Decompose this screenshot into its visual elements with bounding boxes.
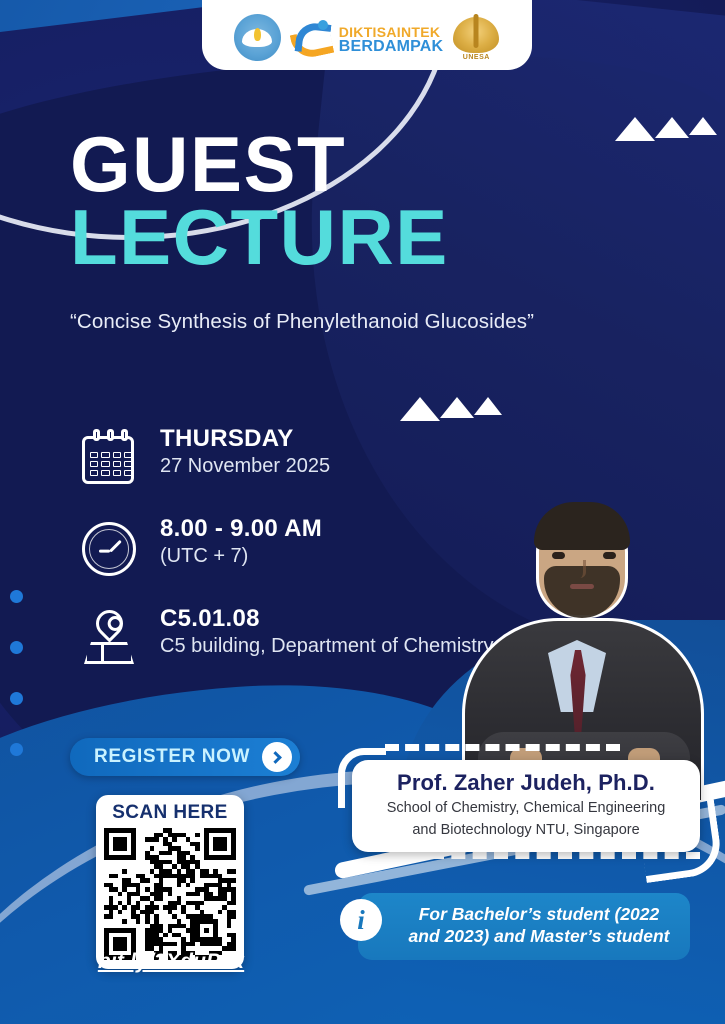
detail-row-location: C5.01.08 C5 building, Department of Chem… (78, 606, 493, 668)
triangle-icon (474, 380, 502, 415)
diktisaintek-swoosh-icon (290, 19, 334, 61)
pin-map (84, 642, 134, 664)
register-button-label: REGISTER NOW (94, 746, 250, 768)
dot-icon (10, 743, 23, 756)
clock-icon (78, 516, 140, 578)
speaker-name: Prof. Zaher Judeh, Ph.D. (366, 770, 686, 796)
detail-secondary-location: C5 building, Department of Chemistry (160, 634, 493, 658)
speaker-eye (552, 552, 565, 559)
detail-row-time: 8.00 - 9.00 AM (UTC + 7) (78, 516, 493, 578)
speaker-nose (576, 560, 586, 578)
pin-shape (84, 610, 134, 666)
pin-map-fold (101, 642, 104, 664)
notice-line2: and 2023) and Master’s student (404, 926, 674, 948)
calendar-ring (93, 429, 100, 441)
event-details-list: THURSDAY 27 November 2025 8.00 - 9.00 AM… (78, 426, 493, 696)
tut-wuri-handayani-icon (234, 14, 281, 61)
clock-hour-hand (109, 540, 121, 552)
triangle-icon (655, 100, 689, 138)
pin-drop (90, 604, 128, 642)
speaker-affiliation-line1: School of Chemistry, Chemical Engineerin… (366, 799, 686, 818)
dot-icon (10, 590, 23, 603)
speaker-affiliation-line2: and Biotechnology NTU, Singapore (366, 821, 686, 840)
detail-primary-location: C5.01.08 (160, 606, 493, 633)
speaker-mouth (570, 584, 594, 589)
notice-line1: For Bachelor’s student (2022 (404, 904, 674, 926)
diktisaintek-line2: BERDAMPAK (339, 39, 444, 55)
calendar-ring (121, 429, 128, 441)
calendar-grid (90, 452, 132, 476)
triangle-group-middle (400, 380, 448, 398)
speaker-eyebrow (549, 544, 569, 548)
dot-icon (10, 692, 23, 705)
detail-primary-date: THURSDAY (160, 426, 330, 453)
speaker-name-card: Prof. Zaher Judeh, Ph.D. School of Chemi… (352, 760, 700, 852)
calendar-body (82, 436, 134, 484)
dot-icon (10, 641, 23, 654)
map-pin-icon (78, 606, 140, 668)
triangle-icon (440, 380, 474, 418)
headline-line-lecture: LECTURE (70, 201, 449, 274)
detail-text-time: 8.00 - 9.00 AM (UTC + 7) (160, 516, 322, 568)
swoosh-dot (318, 20, 328, 30)
audience-notice-banner: i For Bachelor’s student (2022 and 2023)… (358, 893, 690, 960)
dot-decoration-column (10, 590, 23, 794)
lecture-subtitle: “Concise Synthesis of Phenylethanoid Glu… (70, 310, 534, 334)
clock-minute-hand (99, 550, 110, 553)
unesa-logo: UNESA (452, 11, 500, 61)
detail-secondary-date: 27 November 2025 (160, 454, 330, 478)
register-now-button[interactable]: REGISTER NOW (70, 738, 300, 776)
qr-code-image[interactable] (104, 828, 236, 960)
detail-primary-time: 8.00 - 9.00 AM (160, 516, 322, 543)
dashed-line-top (385, 744, 620, 751)
logo-banner: DIKTISAINTEK BERDAMPAK UNESA (202, 0, 532, 70)
speaker-eye (603, 552, 616, 559)
diktisaintek-logo: DIKTISAINTEK BERDAMPAK (290, 19, 444, 61)
speaker-eyebrow (599, 544, 619, 548)
detail-text-date: THURSDAY 27 November 2025 (160, 426, 330, 478)
qr-code-card[interactable]: SCAN HERE (96, 795, 244, 969)
registration-url-link[interactable]: bit.ly/3XduP7x (96, 950, 246, 974)
scan-here-label: SCAN HERE (104, 802, 236, 824)
detail-text-location: C5.01.08 C5 building, Department of Chem… (160, 606, 493, 658)
triangle-icon (615, 100, 655, 141)
detail-secondary-time: (UTC + 7) (160, 544, 322, 568)
calendar-icon (78, 426, 140, 488)
unesa-wing-icon (453, 17, 499, 53)
diktisaintek-line1: DIKTISAINTEK (339, 25, 444, 39)
chevron-right-icon[interactable] (262, 742, 292, 772)
unesa-label: UNESA (463, 54, 490, 61)
triangle-group-top (615, 100, 671, 118)
clock-face (82, 522, 136, 576)
dashed-line-bottom (430, 852, 700, 859)
flame-shape (254, 28, 261, 41)
headline-line-guest: GUEST (70, 128, 449, 201)
page-title: GUEST LECTURE (70, 128, 449, 275)
speaker-hair (534, 502, 630, 550)
diktisaintek-wordmark: DIKTISAINTEK BERDAMPAK (339, 25, 444, 55)
triangle-icon (400, 380, 440, 421)
speaker-portrait (452, 500, 714, 800)
triangle-icon (689, 100, 717, 135)
detail-row-date: THURSDAY 27 November 2025 (78, 426, 493, 488)
poster-canvas: DIKTISAINTEK BERDAMPAK UNESA GUEST LECTU… (0, 0, 725, 1024)
info-icon: i (340, 899, 382, 941)
calendar-ring (107, 429, 114, 441)
